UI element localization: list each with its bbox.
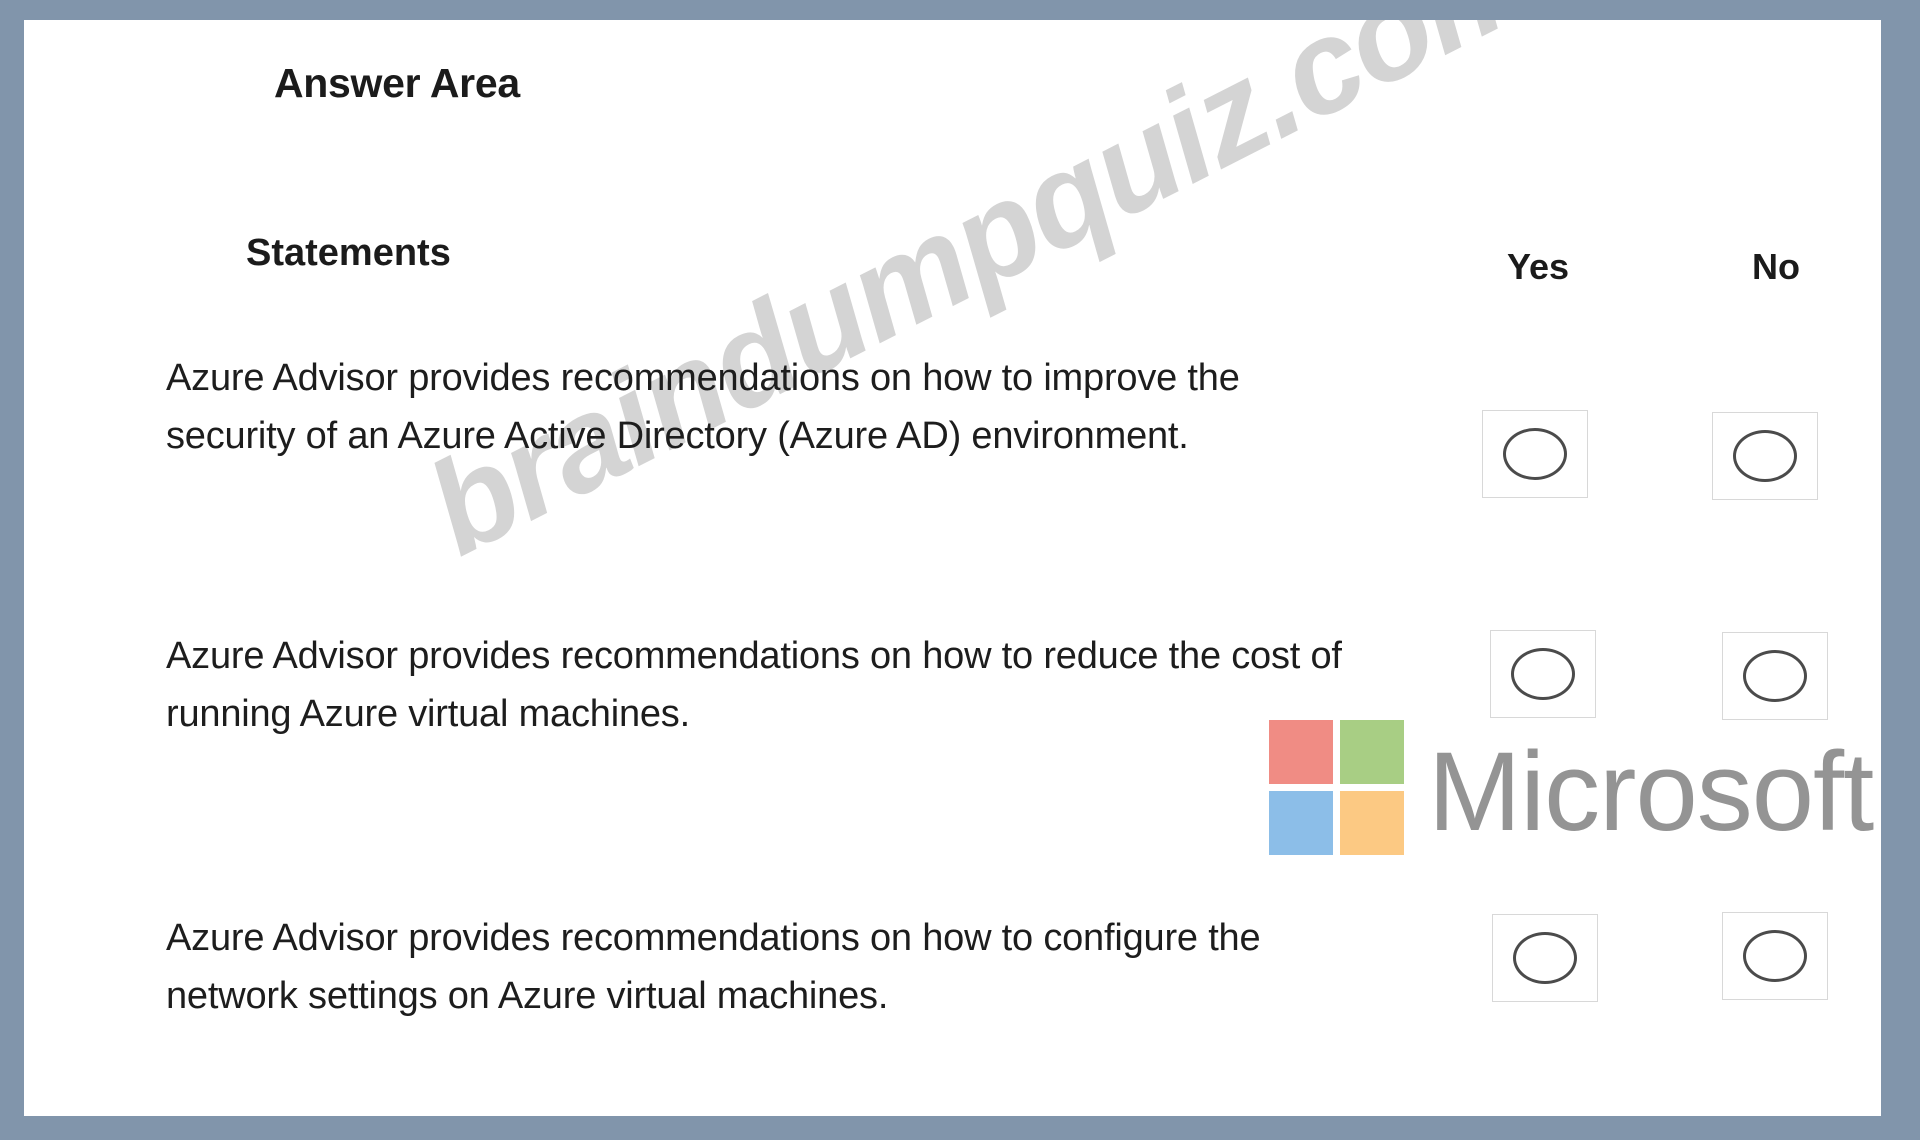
radio-circle-icon [1743, 650, 1807, 702]
slide-frame: braindumpquiz.com Microsoft Answer Area … [24, 20, 1881, 1116]
column-header-statements: Statements [246, 232, 451, 275]
page-title: Answer Area [274, 60, 520, 107]
radio-row3-yes[interactable] [1492, 914, 1598, 1002]
radio-row3-no[interactable] [1722, 912, 1828, 1000]
radio-row1-yes[interactable] [1482, 410, 1588, 498]
radio-row2-no[interactable] [1722, 632, 1828, 720]
radio-circle-icon [1503, 428, 1567, 480]
radio-circle-icon [1733, 430, 1797, 482]
radio-row2-yes[interactable] [1490, 630, 1596, 718]
answer-area-content: Answer Area Statements Yes No Azure Advi… [24, 20, 1881, 1116]
statement-text-3: Azure Advisor provides recommendations o… [166, 910, 1356, 1026]
radio-row1-no[interactable] [1712, 412, 1818, 500]
statement-text-2: Azure Advisor provides recommendations o… [166, 628, 1356, 744]
radio-circle-icon [1513, 932, 1577, 984]
statement-text-1: Azure Advisor provides recommendations o… [166, 350, 1356, 466]
radio-circle-icon [1511, 648, 1575, 700]
column-header-no: No [1696, 246, 1856, 288]
column-header-yes: Yes [1458, 246, 1618, 288]
radio-circle-icon [1743, 930, 1807, 982]
